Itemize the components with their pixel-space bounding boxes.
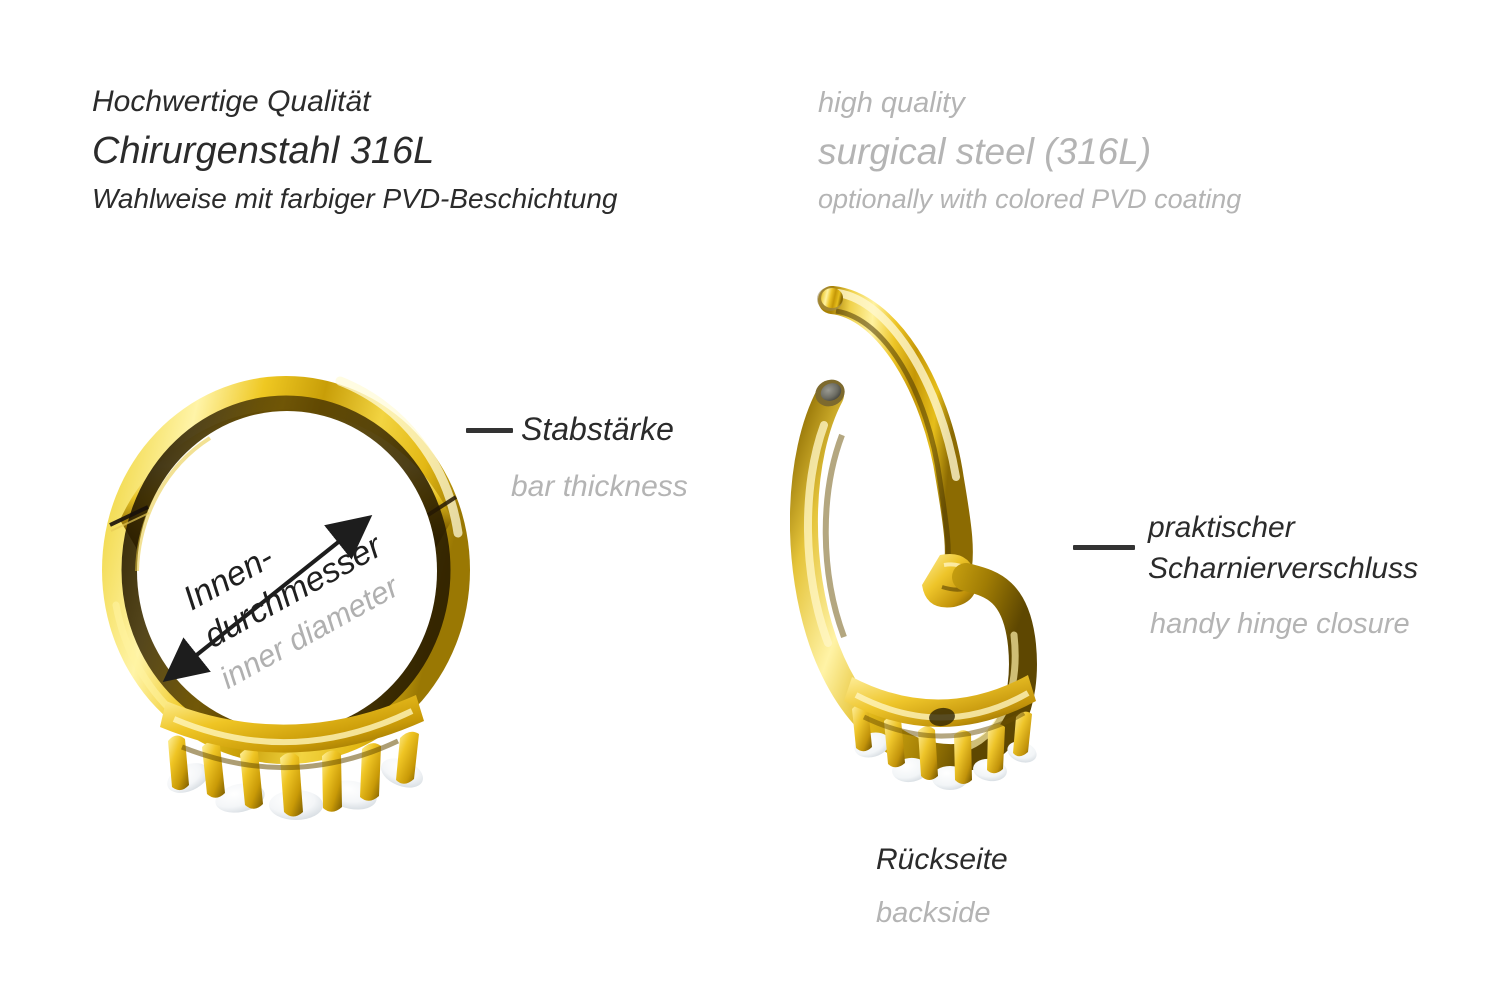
header-english: high quality surgical steel (316L) optio… — [818, 80, 1241, 221]
leader-line-bar-thickness — [466, 428, 513, 433]
header-german-line1: Hochwertige Qualität — [92, 78, 617, 125]
caption-backside-english: backside — [876, 897, 990, 930]
ring-upper-arm-open — [817, 287, 959, 577]
header-german-line2: Chirurgenstahl 316L — [92, 125, 617, 177]
caption-backside-german: Rückseite — [876, 843, 1008, 877]
header-english-line2: surgical steel (316L) — [818, 126, 1241, 178]
header-german-line3: Wahlweise mit farbiger PVD-Beschichtung — [92, 177, 617, 221]
leader-line-hinge — [1073, 545, 1135, 550]
infographic-canvas: Hochwertige Qualität Chirurgenstahl 316L… — [0, 0, 1500, 1001]
label-bar-thickness-german: Stabstärke — [521, 411, 674, 448]
header-german: Hochwertige Qualität Chirurgenstahl 316L… — [92, 78, 617, 221]
label-hinge-german-line2: Scharnierverschluss — [1148, 548, 1418, 589]
label-hinge-german-line1: praktischer — [1148, 507, 1418, 548]
label-bar-thickness-english: bar thickness — [511, 470, 688, 504]
header-english-line1: high quality — [818, 80, 1241, 126]
label-hinge-german: praktischer Scharnierverschluss — [1148, 507, 1418, 589]
header-english-line3: optionally with colored PVD coating — [818, 178, 1241, 221]
ring-open-illustration — [790, 265, 1110, 865]
label-hinge-english: handy hinge closure — [1150, 608, 1410, 641]
